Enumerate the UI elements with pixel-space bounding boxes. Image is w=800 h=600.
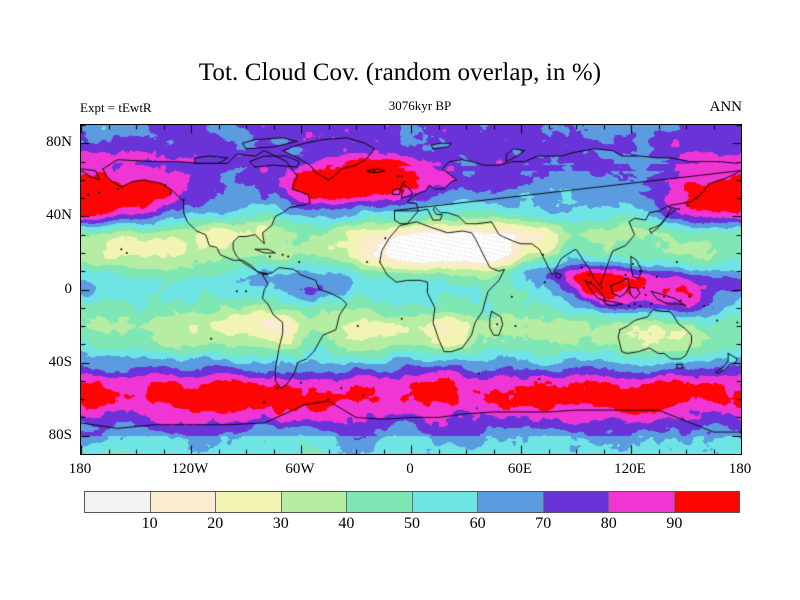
colorbar-band: [216, 492, 282, 512]
colorbar-tick-label: 90: [644, 515, 704, 533]
colorbar-band: [347, 492, 413, 512]
x-tick-label: 120E: [590, 461, 670, 477]
colorbar-band: [544, 492, 610, 512]
colorbar-band: [478, 492, 544, 512]
colorbar-tick-label: 60: [448, 515, 508, 533]
x-tick-label: 180: [40, 461, 120, 477]
x-tick-label: 60W: [260, 461, 340, 477]
season-label: ANN: [710, 98, 743, 116]
experiment-label: Expt = tEwtR: [80, 100, 152, 116]
colorbar-band: [675, 492, 740, 512]
y-tick-label: 40N: [6, 207, 72, 223]
colorbar-tick-label: 30: [251, 515, 311, 533]
x-tick-label: 180: [700, 461, 780, 477]
colorbar-band: [151, 492, 217, 512]
colorbar-tick-label: 70: [513, 515, 573, 533]
colorbar-tick-label: 40: [316, 515, 376, 533]
x-tick-label: 60E: [480, 461, 560, 477]
colorbar-band: [413, 492, 479, 512]
colorbar-tick-label: 80: [579, 515, 639, 533]
colorbar: 102030405060708090: [84, 491, 740, 513]
colorbar-tick-label: 20: [185, 515, 245, 533]
y-tick-label: 40S: [6, 354, 72, 370]
x-tick-label: 120W: [150, 461, 230, 477]
y-tick-label: 80N: [6, 134, 72, 150]
page-title: Tot. Cloud Cov. (random overlap, in %): [0, 58, 800, 88]
colorbar-band: [609, 492, 675, 512]
map-plot-area: [80, 124, 742, 455]
colorbar-band: [282, 492, 348, 512]
climate-map-figure: Tot. Cloud Cov. (random overlap, in %) E…: [0, 0, 800, 600]
colorbar-tick-label: 10: [120, 515, 180, 533]
colorbar-bands: [84, 491, 740, 513]
cloud-cover-raster: [81, 125, 741, 454]
colorbar-band: [85, 492, 151, 512]
y-tick-label: 80S: [6, 427, 72, 443]
x-tick-label: 0: [370, 461, 450, 477]
y-tick-label: 0: [6, 281, 72, 297]
colorbar-tick-label: 50: [382, 515, 442, 533]
time-period-label: 3076kyr BP: [270, 98, 570, 114]
